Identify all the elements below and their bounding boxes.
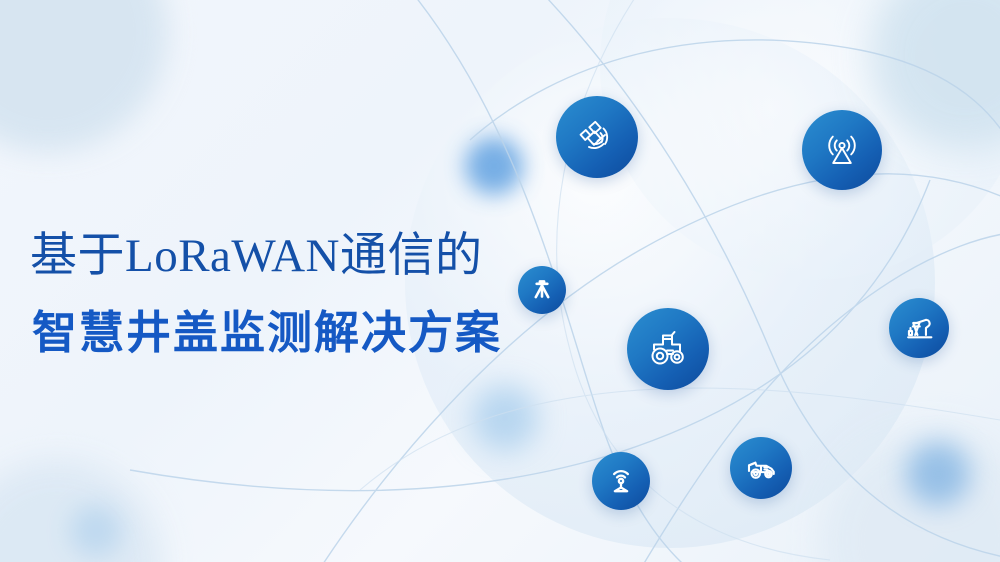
- tractor-icon: [644, 325, 692, 373]
- radio-tower-icon: [820, 128, 864, 172]
- orbit-arc-8: [360, 388, 1000, 490]
- node-antenna-tower[interactable]: [802, 110, 882, 190]
- wireless-sensor-icon: [605, 465, 637, 497]
- background-blob-bottom-left: [0, 460, 162, 562]
- background-blob-top-left: [0, 0, 168, 152]
- node-oil-pumpjack[interactable]: [889, 298, 949, 358]
- satellite-dish-icon: [575, 115, 619, 159]
- background-blob-bottom-right: [820, 430, 1000, 562]
- accent-dot-lower-left: [70, 505, 122, 557]
- accent-dot-upper-center: [465, 137, 523, 195]
- node-wireless-sensor[interactable]: [592, 452, 650, 510]
- accent-dot-mid-left: [472, 385, 538, 451]
- page-title-line-2: 智慧井盖监测解决方案: [32, 305, 550, 361]
- orbit-arc-6: [640, 232, 1000, 562]
- node-tractor[interactable]: [627, 308, 709, 390]
- combine-harvester-icon: [743, 450, 779, 486]
- slide-title: 基于LoRaWAN通信的 智慧井盖监测解决方案: [30, 228, 550, 362]
- page-title-line-1: 基于LoRaWAN通信的: [30, 228, 550, 285]
- presentation-slide: 基于LoRaWAN通信的 智慧井盖监测解决方案: [0, 0, 1000, 562]
- orbit-arc-2: [470, 40, 1000, 190]
- accent-dot-lower-right: [906, 442, 970, 506]
- node-satellite[interactable]: [556, 96, 638, 178]
- background-blob-top-right: [870, 0, 1000, 150]
- oil-pumpjack-icon: [902, 311, 936, 345]
- background-sphere-small: [600, 0, 1000, 280]
- node-combine-harvester[interactable]: [730, 437, 792, 499]
